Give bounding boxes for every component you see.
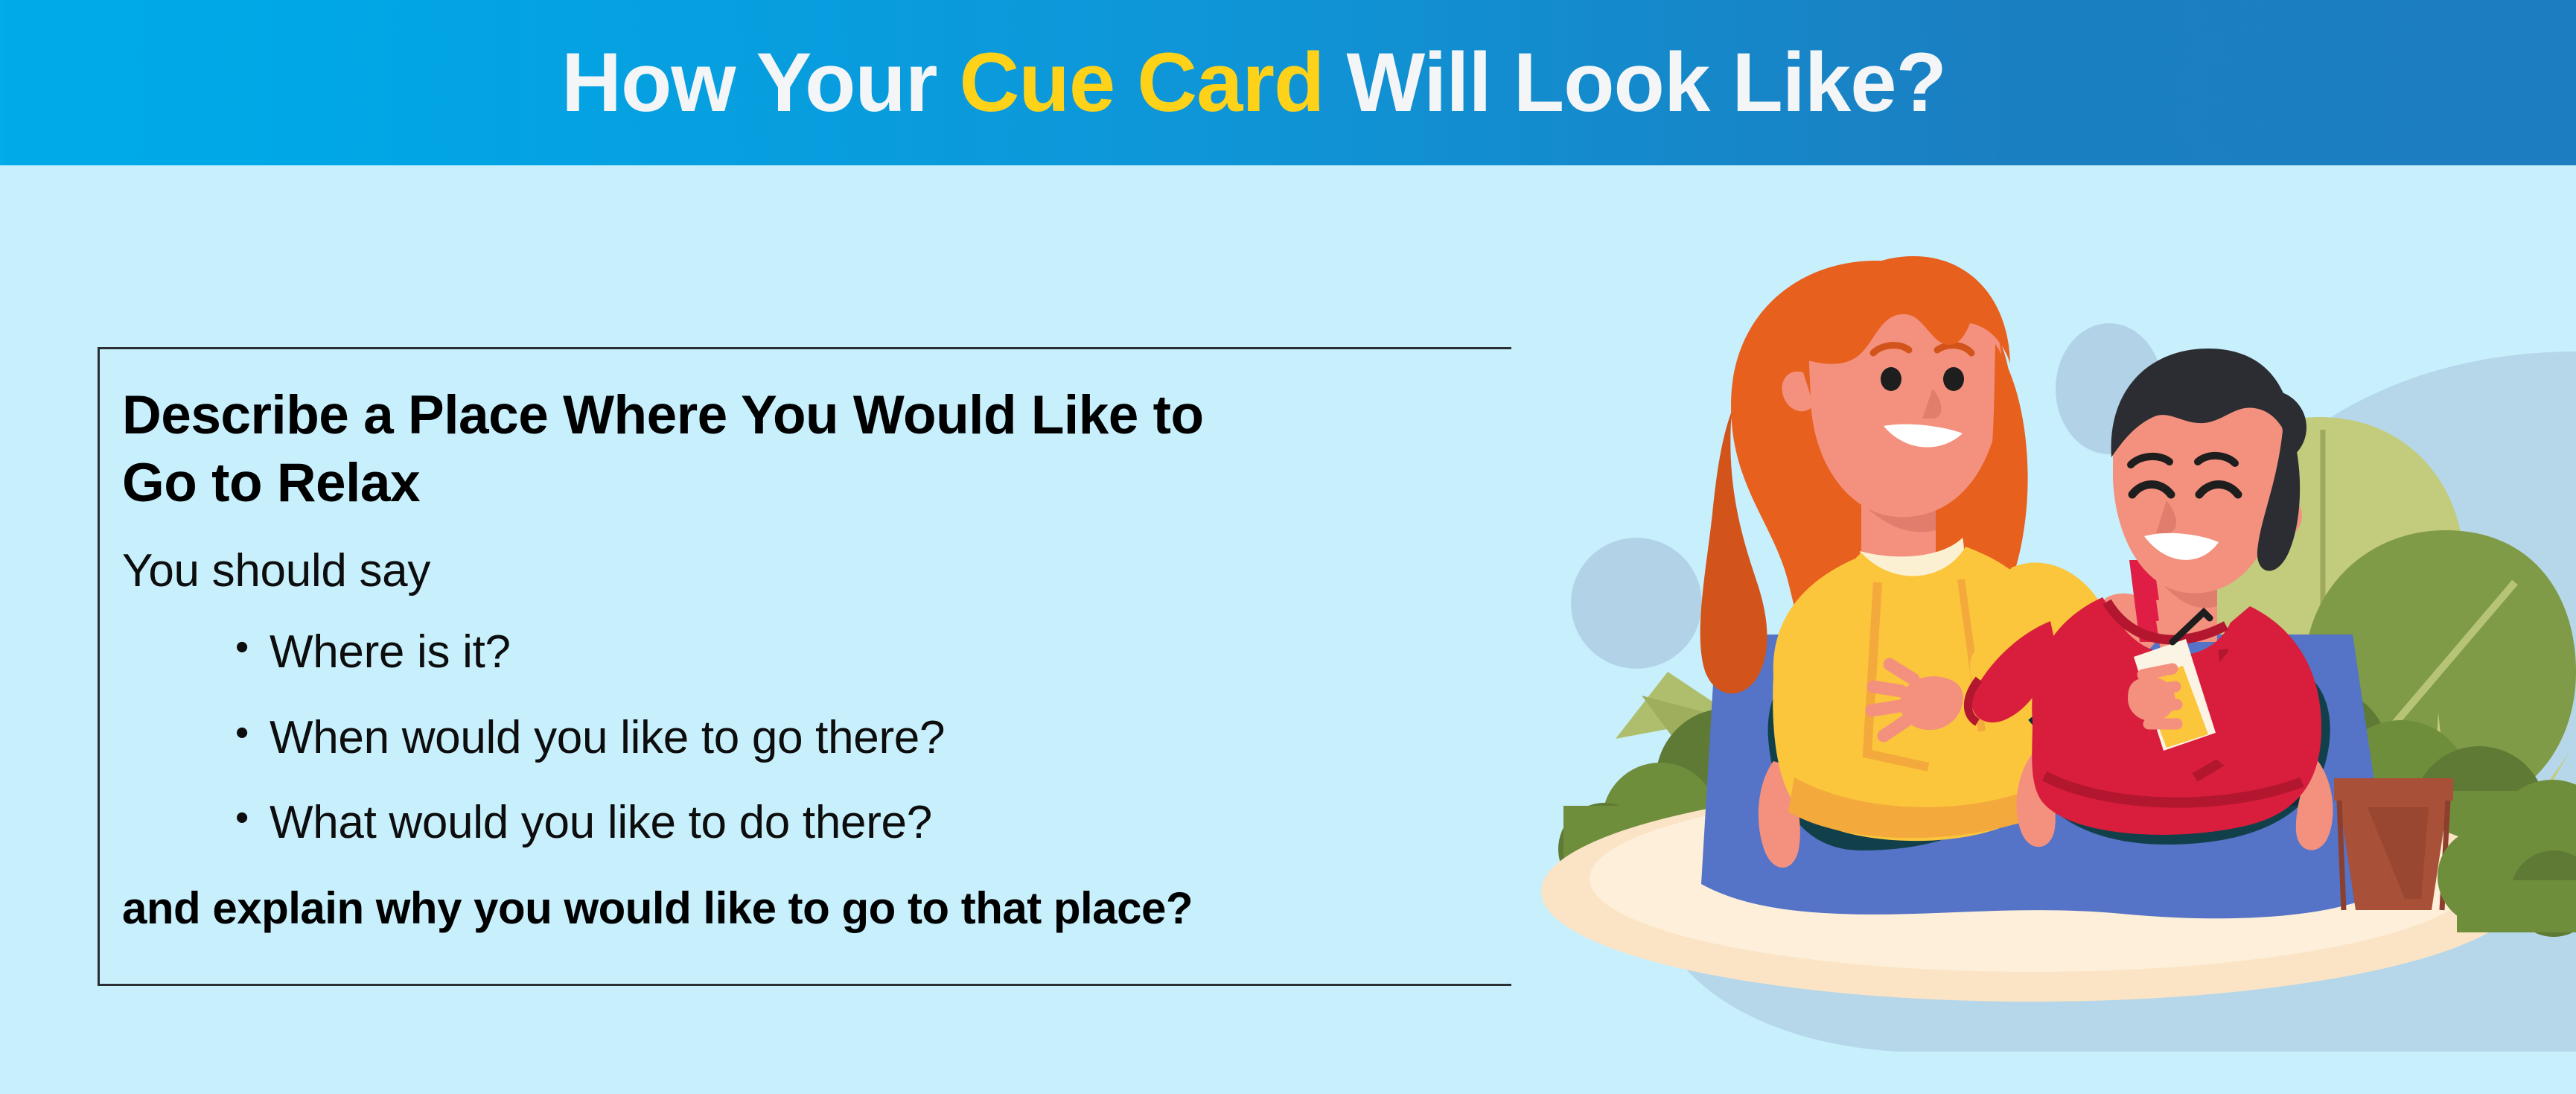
list-item: Where is it? bbox=[235, 627, 1515, 678]
cue-card-footer: and explain why you would like to go to … bbox=[122, 882, 1515, 934]
cue-card-title: Describe a Place Where You Would Like to… bbox=[122, 382, 1284, 517]
left-woman-eye bbox=[1943, 367, 1964, 391]
page-root: How Your Cue Card Will Look Like? Descri… bbox=[0, 0, 2576, 1094]
list-item: What would you like to do there? bbox=[235, 798, 1515, 848]
list-item: When would you like to go there? bbox=[235, 713, 1515, 763]
cue-card-subtitle: You should say bbox=[122, 544, 1515, 599]
cue-card-bullet-list: Where is it? When would you like to go t… bbox=[122, 627, 1515, 848]
picnic-illustration bbox=[1511, 165, 2576, 1094]
title-text-highlight: Cue Card bbox=[960, 36, 1324, 129]
page-header: How Your Cue Card Will Look Like? bbox=[0, 0, 2576, 165]
deco-circle bbox=[1571, 538, 1702, 669]
header-left-edge-strip bbox=[0, 0, 4, 165]
title-text-part2: Will Look Like? bbox=[1324, 36, 1945, 129]
page-title: How Your Cue Card Will Look Like? bbox=[561, 41, 1946, 124]
left-woman-eye bbox=[1881, 367, 1901, 391]
title-text-part1: How Your bbox=[561, 36, 959, 129]
cue-card: Describe a Place Where You Would Like to… bbox=[98, 347, 1517, 986]
